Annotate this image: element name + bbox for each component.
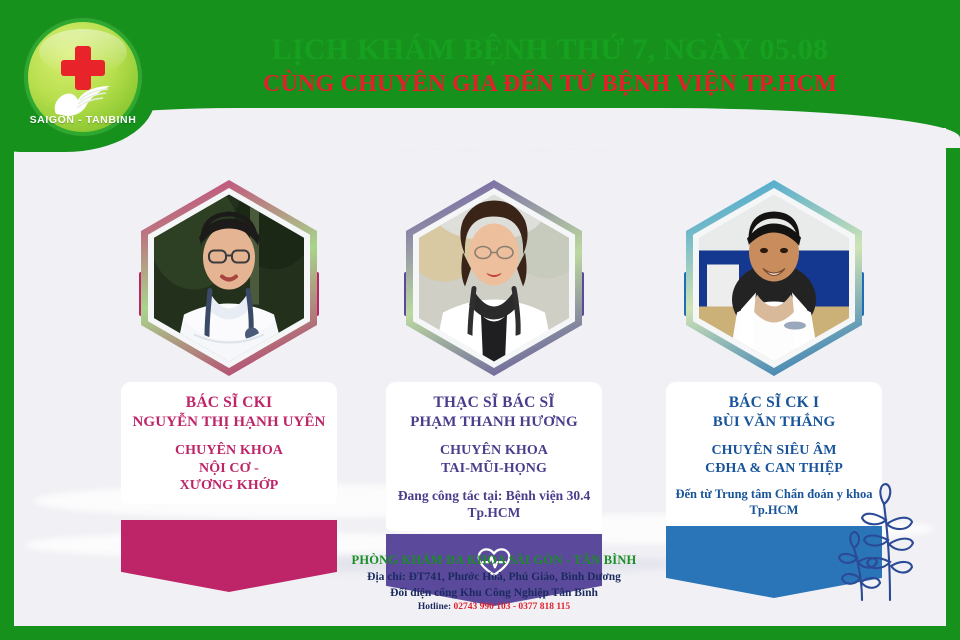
doctor-role: BÁC SĨ CK I (674, 394, 874, 413)
logo-text: SAIGON - TANBINH (28, 114, 138, 126)
poster-root: BÁC SĨ CKI NGUYỄN THỊ HẠNH UYÊN CHUYÊN K… (0, 0, 960, 640)
doctor-specialty-1: CHUYÊN SIÊU ÂM (674, 442, 874, 459)
doctor-photo-frame (141, 180, 317, 376)
doctor-specialty-2: TAI-MŨI-HỌNG (394, 460, 594, 477)
caring-hand-icon (52, 82, 114, 116)
doctor-card[interactable]: THẠC SĨ BÁC SĨ PHẠM THANH HƯƠNG CHUYÊN K… (374, 154, 614, 574)
clinic-address-line-1: Địa chỉ: ĐT741, Phước Hoà, Phú Giáo, Bìn… (14, 569, 946, 585)
doctor-name: PHẠM THANH HƯƠNG (394, 413, 594, 431)
doctor-name: BÙI VĂN THẮNG (674, 413, 874, 431)
doctor-specialty-2: NỘI CƠ - (129, 460, 329, 477)
doctor-role: BÁC SĨ CKI (129, 394, 329, 413)
doctor-info: THẠC SĨ BÁC SĨ PHẠM THANH HƯƠNG CHUYÊN K… (386, 382, 602, 531)
clinic-name: PHÒNG KHÁM ĐA KHOA SÀI GÒN - TÂN BÌNH (14, 552, 946, 569)
clinic-hotline[interactable]: Hotline: 02743 990 103 - 0377 818 115 (14, 602, 946, 612)
doctor-name: NGUYỄN THỊ HẠNH UYÊN (129, 413, 329, 431)
doctor-specialty-2: CĐHA & CAN THIỆP (674, 460, 874, 477)
poster-title: LỊCH KHÁM BỆNH THỨ 7, NGÀY 05.08 CÙNG CH… (160, 34, 940, 98)
hotline-numbers[interactable]: 02743 990 103 - 0377 818 115 (453, 602, 570, 612)
clinic-logo[interactable]: SAIGON - TANBINH (24, 18, 142, 136)
clinic-address-line-2: Đối diện cổng Khu Công Nghiệp Tân Bình (14, 585, 946, 601)
doctor-specialty-1: CHUYÊN KHOA (129, 442, 329, 459)
hotline-label: Hotline: (418, 602, 451, 612)
doctor-photo-frame (686, 180, 862, 376)
doctor-photo-frame (406, 180, 582, 376)
footer-block: PHÒNG KHÁM ĐA KHOA SÀI GÒN - TÂN BÌNH Đị… (14, 552, 946, 612)
doctor-note: Đang công tác tại: Bệnh viện 30.4 Tp.HCM (394, 487, 594, 521)
title-line-1: LỊCH KHÁM BỆNH THỨ 7, NGÀY 05.08 (160, 34, 940, 66)
doctor-specialty-1: CHUYÊN KHOA (394, 442, 594, 459)
doctor-info: BÁC SĨ CKI NGUYỄN THỊ HẠNH UYÊN CHUYÊN K… (121, 382, 337, 504)
doctor-card-list: BÁC SĨ CKI NGUYỄN THỊ HẠNH UYÊN CHUYÊN K… (14, 154, 946, 584)
doctor-specialty-3: XƯƠNG KHỚP (129, 477, 329, 494)
doctor-role: THẠC SĨ BÁC SĨ (394, 394, 594, 413)
title-line-2: CÙNG CHUYÊN GIA ĐẾN TỪ BỆNH VIỆN TP.HCM (160, 71, 940, 97)
doctor-card[interactable]: BÁC SĨ CKI NGUYỄN THỊ HẠNH UYÊN CHUYÊN K… (109, 154, 349, 574)
